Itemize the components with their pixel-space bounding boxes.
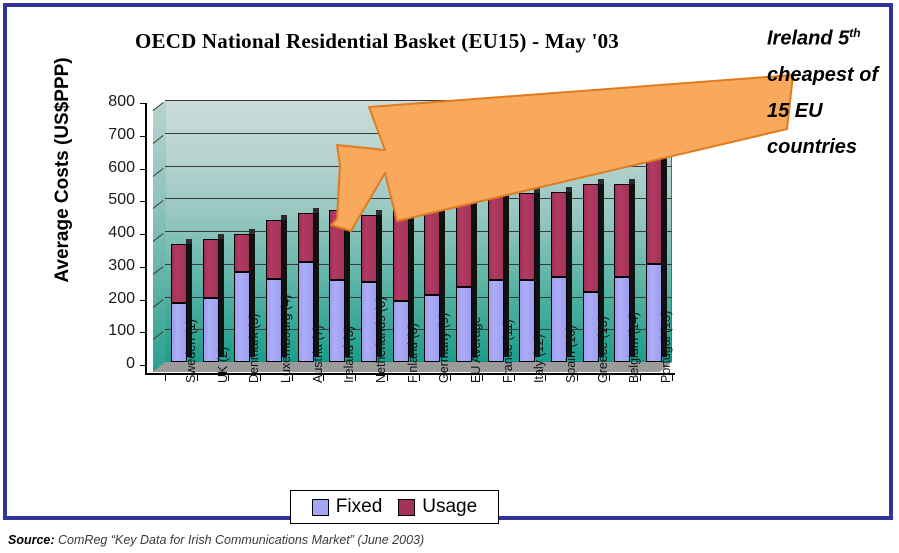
annotation-line-1-text: Ireland 5 <box>767 28 849 50</box>
annotation-line-2: cheapest of <box>767 57 899 93</box>
x-tick-mark <box>228 375 229 381</box>
annotation-ordinal-suffix: th <box>849 26 860 40</box>
annotation-line-4: countries <box>767 129 899 165</box>
x-tick-mark <box>609 375 610 381</box>
y-axis-title-text: Average Costs (US$PPP) <box>52 57 73 282</box>
y-axis-title: Average Costs (US$PPP) <box>52 50 74 290</box>
x-tick-mark <box>545 375 546 381</box>
x-tick-mark <box>165 375 166 381</box>
bar-segment-usage[interactable] <box>614 184 630 277</box>
x-tick-mark <box>355 375 356 381</box>
x-category-label: Portugal (15) <box>659 311 673 383</box>
y-tick-label: 600 <box>95 159 135 177</box>
x-tick-mark <box>450 375 451 381</box>
x-tick-mark <box>482 375 483 381</box>
bar-segment-usage[interactable] <box>361 215 377 282</box>
chart-title: OECD National Residential Basket (EU15) … <box>67 29 687 54</box>
y-tick-mark <box>140 365 147 366</box>
x-tick-mark <box>577 375 578 381</box>
y-tick-label: 100 <box>95 322 135 340</box>
annotation-line-1: Ireland 5th <box>767 15 899 57</box>
y-tick-mark <box>140 300 147 301</box>
x-category-label: Germany (9) <box>437 313 451 383</box>
bar-segment-usage[interactable] <box>519 193 535 280</box>
gridline <box>165 166 672 167</box>
x-tick-mark <box>292 375 293 381</box>
x-category-label: France (11) <box>501 319 515 383</box>
bar-segment-usage[interactable] <box>234 234 250 272</box>
legend-swatch-usage <box>398 499 415 516</box>
x-tick-mark <box>640 375 641 381</box>
bar-segment-usage[interactable] <box>456 202 472 287</box>
y-tick-label: 800 <box>95 93 135 111</box>
bar-segment-usage[interactable] <box>488 192 504 280</box>
bar-segment-usage[interactable] <box>583 184 599 292</box>
legend-label-usage: Usage <box>422 496 477 518</box>
gridline <box>165 100 672 101</box>
bar-segment-usage[interactable] <box>424 193 440 295</box>
y-tick-mark <box>140 169 147 170</box>
y-tick-mark <box>140 332 147 333</box>
x-category-label: Luxembourg (4) <box>279 295 293 383</box>
bar-segment-usage[interactable] <box>298 213 314 262</box>
bar-group[interactable] <box>203 239 219 362</box>
annotation-text: Ireland 5th cheapest of 15 EU countries <box>767 15 899 165</box>
x-category-label: Belgium (14) <box>627 312 641 383</box>
bar-segment-usage[interactable] <box>171 244 187 303</box>
legend-item-fixed[interactable]: Fixed <box>312 496 382 518</box>
x-category-label: Sweden (1) <box>184 319 198 383</box>
y-tick-label: 400 <box>95 224 135 242</box>
x-tick-mark <box>260 375 261 381</box>
chart-legend: Fixed Usage <box>290 490 499 524</box>
x-category-label: EU Average <box>469 317 483 383</box>
gridline <box>165 133 672 134</box>
source-footnote: Source: ComReg “Key Data for Irish Commu… <box>8 533 424 547</box>
chart-frame: OECD National Residential Basket (EU15) … <box>3 3 893 520</box>
y-tick-label: 700 <box>95 126 135 144</box>
y-tick-mark <box>140 267 147 268</box>
legend-item-usage[interactable]: Usage <box>398 496 477 518</box>
x-tick-mark <box>419 375 420 381</box>
y-tick-mark <box>140 201 147 202</box>
y-tick-label: 300 <box>95 257 135 275</box>
y-tick-label: 200 <box>95 290 135 308</box>
bar-segment-usage[interactable] <box>551 192 567 277</box>
slide-canvas: OECD National Residential Basket (EU15) … <box>0 0 899 553</box>
y-tick-label: 500 <box>95 191 135 209</box>
bar-segment-usage[interactable] <box>646 113 662 264</box>
bar-side-face <box>535 188 540 357</box>
source-text: ComReg “Key Data for Irish Communication… <box>58 533 424 547</box>
x-category-label: Greece (13) <box>596 316 610 383</box>
x-tick-mark <box>387 375 388 381</box>
y-axis-line <box>145 103 147 375</box>
legend-swatch-fixed <box>312 499 329 516</box>
x-tick-mark <box>672 375 673 381</box>
x-category-label: Denmark (3) <box>247 314 261 383</box>
x-tick-mark <box>197 375 198 381</box>
bar-segment-usage[interactable] <box>329 210 345 280</box>
legend-label-fixed: Fixed <box>336 496 382 518</box>
y-tick-mark <box>140 136 147 137</box>
x-tick-mark <box>323 375 324 381</box>
y-tick-mark <box>140 234 147 235</box>
y-tick-label: 0 <box>95 355 135 373</box>
bar-segment-usage[interactable] <box>393 197 409 302</box>
x-category-label: Netherlands (6) <box>374 297 388 383</box>
bar-segment-usage[interactable] <box>266 220 282 279</box>
bar-side-face <box>219 234 224 357</box>
source-label: Source: <box>8 533 55 547</box>
annotation-line-3: 15 EU <box>767 93 899 129</box>
x-tick-mark <box>514 375 515 381</box>
y-tick-mark <box>140 103 147 104</box>
bar-segment-usage[interactable] <box>203 239 219 298</box>
